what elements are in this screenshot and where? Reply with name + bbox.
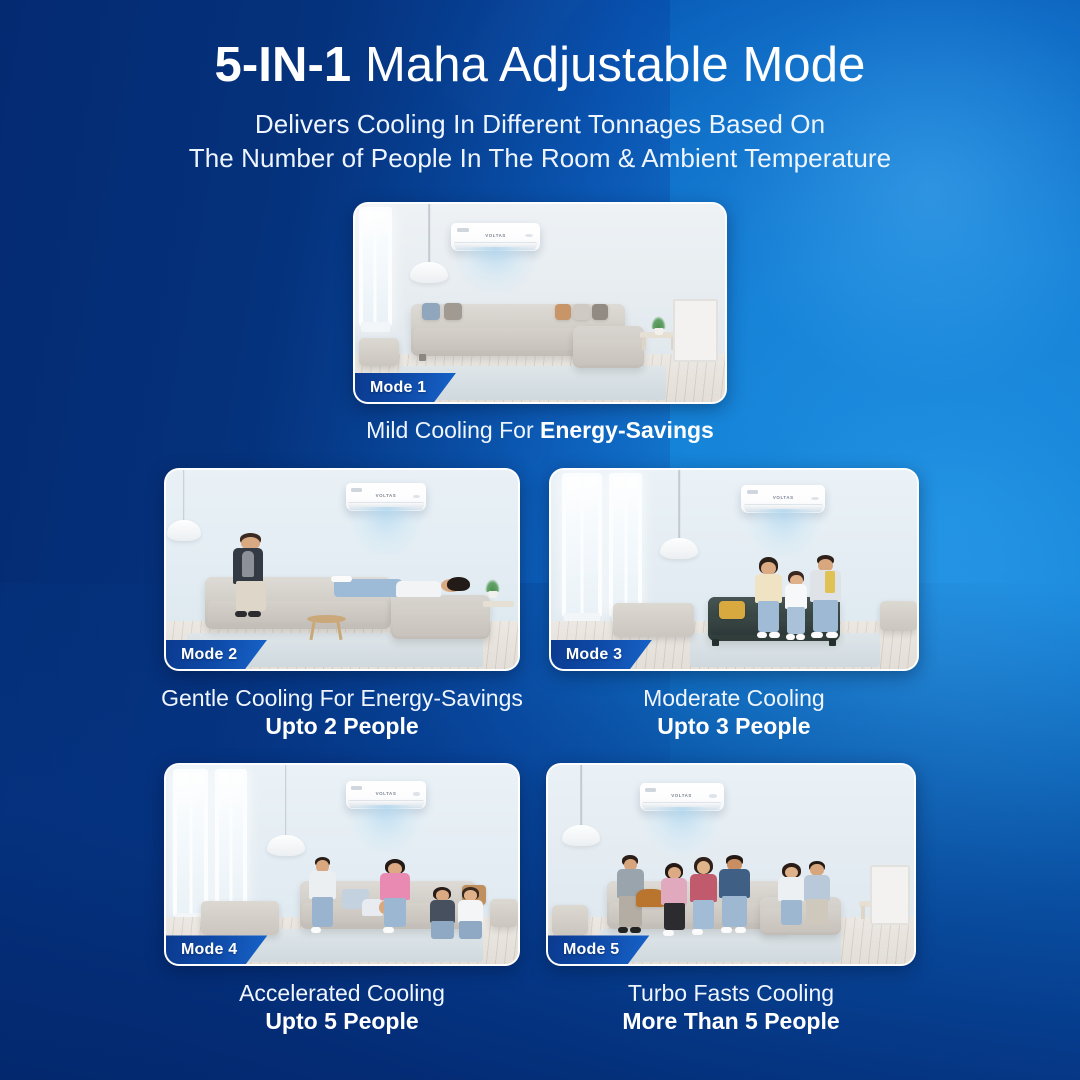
mode-item-4[interactable]: VOLTAS [164,763,520,1037]
window [173,769,208,916]
mode-item-3[interactable]: VOLTAS [549,468,919,742]
page-title-rest: Maha Adjustable Mode [351,38,865,92]
mode-caption-5-line-1: Turbo Fasts Cooling [622,979,839,1007]
mode-row-3: VOLTAS [0,763,1080,1037]
window [359,207,392,326]
cool-air-glow [349,507,423,555]
plant-icon [651,316,666,329]
ottoman [552,905,589,935]
person [658,863,691,945]
person [716,855,753,945]
person [226,533,275,633]
mode-caption-4-line-1: Accelerated Cooling [239,979,445,1007]
mode-caption-5-line-2: More Than 5 People [622,1007,839,1037]
window [562,473,602,616]
mode-caption-4: Accelerated Cooling Upto 5 People [239,979,445,1037]
ottoman [490,899,518,927]
room-scene-3: VOLTAS [551,470,917,669]
mode-item-2[interactable]: VOLTAS [161,468,523,742]
person [801,861,834,939]
mode-caption-2: Gentle Cooling For Energy-Savings Upto 2… [161,684,523,742]
room-scene-4: VOLTAS [166,765,518,964]
mode-caption-3-line-2: Upto 3 People [643,712,825,742]
person [687,857,720,945]
mode-caption-3: Moderate Cooling Upto 3 People [643,684,825,742]
cool-air-glow [349,805,423,853]
mode-caption-1: Mild Cooling For Energy-Savings [366,417,714,444]
mode-caption-4-line-2: Upto 5 People [239,1007,445,1037]
cushion [719,601,745,619]
page-title: 5-IN-1 Maha Adjustable Mode [0,38,1080,93]
person [426,887,458,945]
header: 5-IN-1 Maha Adjustable Mode Delivers Coo… [0,0,1080,176]
cool-air-glow [745,509,822,557]
mode-item-5[interactable]: VOLTAS [546,763,916,1037]
mode-card-1[interactable]: VOLTAS [353,202,727,404]
page-subtitle-line-1: Delivers Cooling In Different Tonnages B… [0,107,1080,141]
mode-card-3[interactable]: VOLTAS [549,468,919,671]
plant-icon [485,579,500,592]
mode-caption-1-prefix: Mild Cooling For [366,417,540,443]
mode-item-1[interactable]: VOLTAS [353,202,727,444]
mode-row-1: VOLTAS [0,202,1080,444]
picture-frame [673,299,717,362]
ottoman [613,603,694,637]
cool-air-glow [643,807,720,855]
ottoman [359,338,400,366]
cushion [422,303,441,321]
page-subtitle: Delivers Cooling In Different Tonnages B… [0,107,1080,176]
page-subtitle-line-2: The Number of People In The Room & Ambie… [0,141,1080,175]
mode-caption-2-line-2: Upto 2 People [161,712,523,742]
person [307,857,339,945]
room-scene-2: VOLTAS [166,470,518,669]
sofa-chaise [573,326,643,368]
cushion [573,304,590,320]
mode-caption-2-line-1: Gentle Cooling For Energy-Savings [161,684,523,712]
picture-frame [870,865,910,925]
room-scene-5: VOLTAS [548,765,914,964]
cool-air-glow [455,247,536,291]
window [215,769,247,916]
room-scene-1: VOLTAS [355,204,725,402]
person [455,887,487,945]
mode-card-2[interactable]: VOLTAS [164,468,520,671]
mode-caption-1-strong: Energy-Savings [540,417,714,443]
mode-caption-5: Turbo Fasts Cooling More Than 5 People [622,979,839,1037]
person [752,557,785,649]
cushion [444,303,463,321]
mode-card-4[interactable]: VOLTAS [164,763,520,966]
page-title-bold: 5-IN-1 [215,38,352,92]
ottoman [880,601,917,631]
side-table [483,601,515,607]
coffee-table [307,615,346,623]
ottoman [201,901,278,935]
mode-card-5[interactable]: VOLTAS [546,763,916,966]
cushion [592,304,609,320]
person [377,859,412,943]
mode-caption-3-line-1: Moderate Cooling [643,684,825,712]
person [807,555,844,649]
window [609,473,642,616]
person [331,569,479,625]
cushion [555,304,572,320]
mode-row-2: VOLTAS [0,468,1080,742]
